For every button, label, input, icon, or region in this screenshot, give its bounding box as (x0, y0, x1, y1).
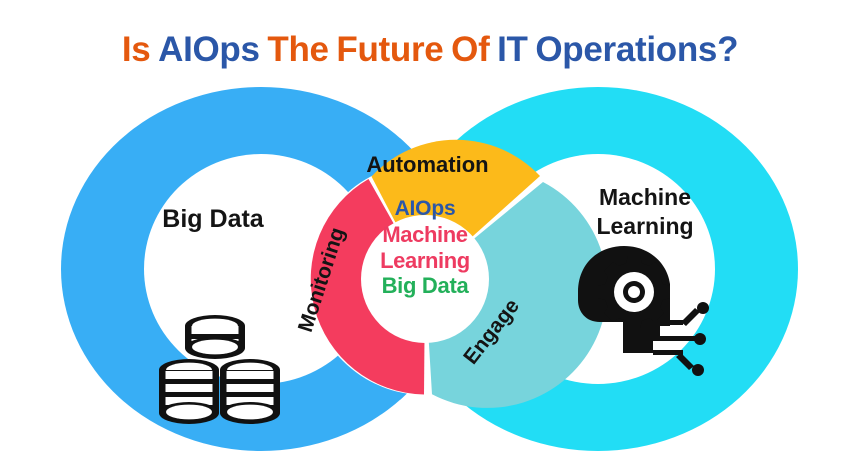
right-ring-label-line1: Machine (599, 184, 691, 210)
left-ring-label: Big Data (128, 205, 298, 234)
core-line-bigdata: Big Data (362, 273, 488, 299)
title-word-it: IT (497, 30, 528, 69)
aiops-infographic: IsAIOpsTheFutureOfITOperations? (0, 0, 860, 460)
title-word-operations: Operations? (535, 30, 738, 69)
title-word-of: Of (451, 30, 489, 69)
page-title: IsAIOpsTheFutureOfITOperations? (0, 28, 860, 72)
core-line-aiops: AIOps (362, 196, 488, 221)
core-line-machine: Machine (362, 222, 488, 247)
title-word-is: Is (122, 30, 151, 69)
title-word-future: Future (336, 30, 443, 69)
right-ring-label: Machine Learning (555, 183, 735, 241)
core-line-learning: Learning (362, 248, 488, 273)
title-word-aiops: AIOps (158, 30, 260, 69)
donut-label-automation: Automation (335, 152, 520, 178)
title-word-the: The (267, 30, 328, 69)
donut-core-text: AIOps Machine Learning Big Data (362, 196, 488, 299)
right-ring-label-line2: Learning (596, 213, 693, 239)
